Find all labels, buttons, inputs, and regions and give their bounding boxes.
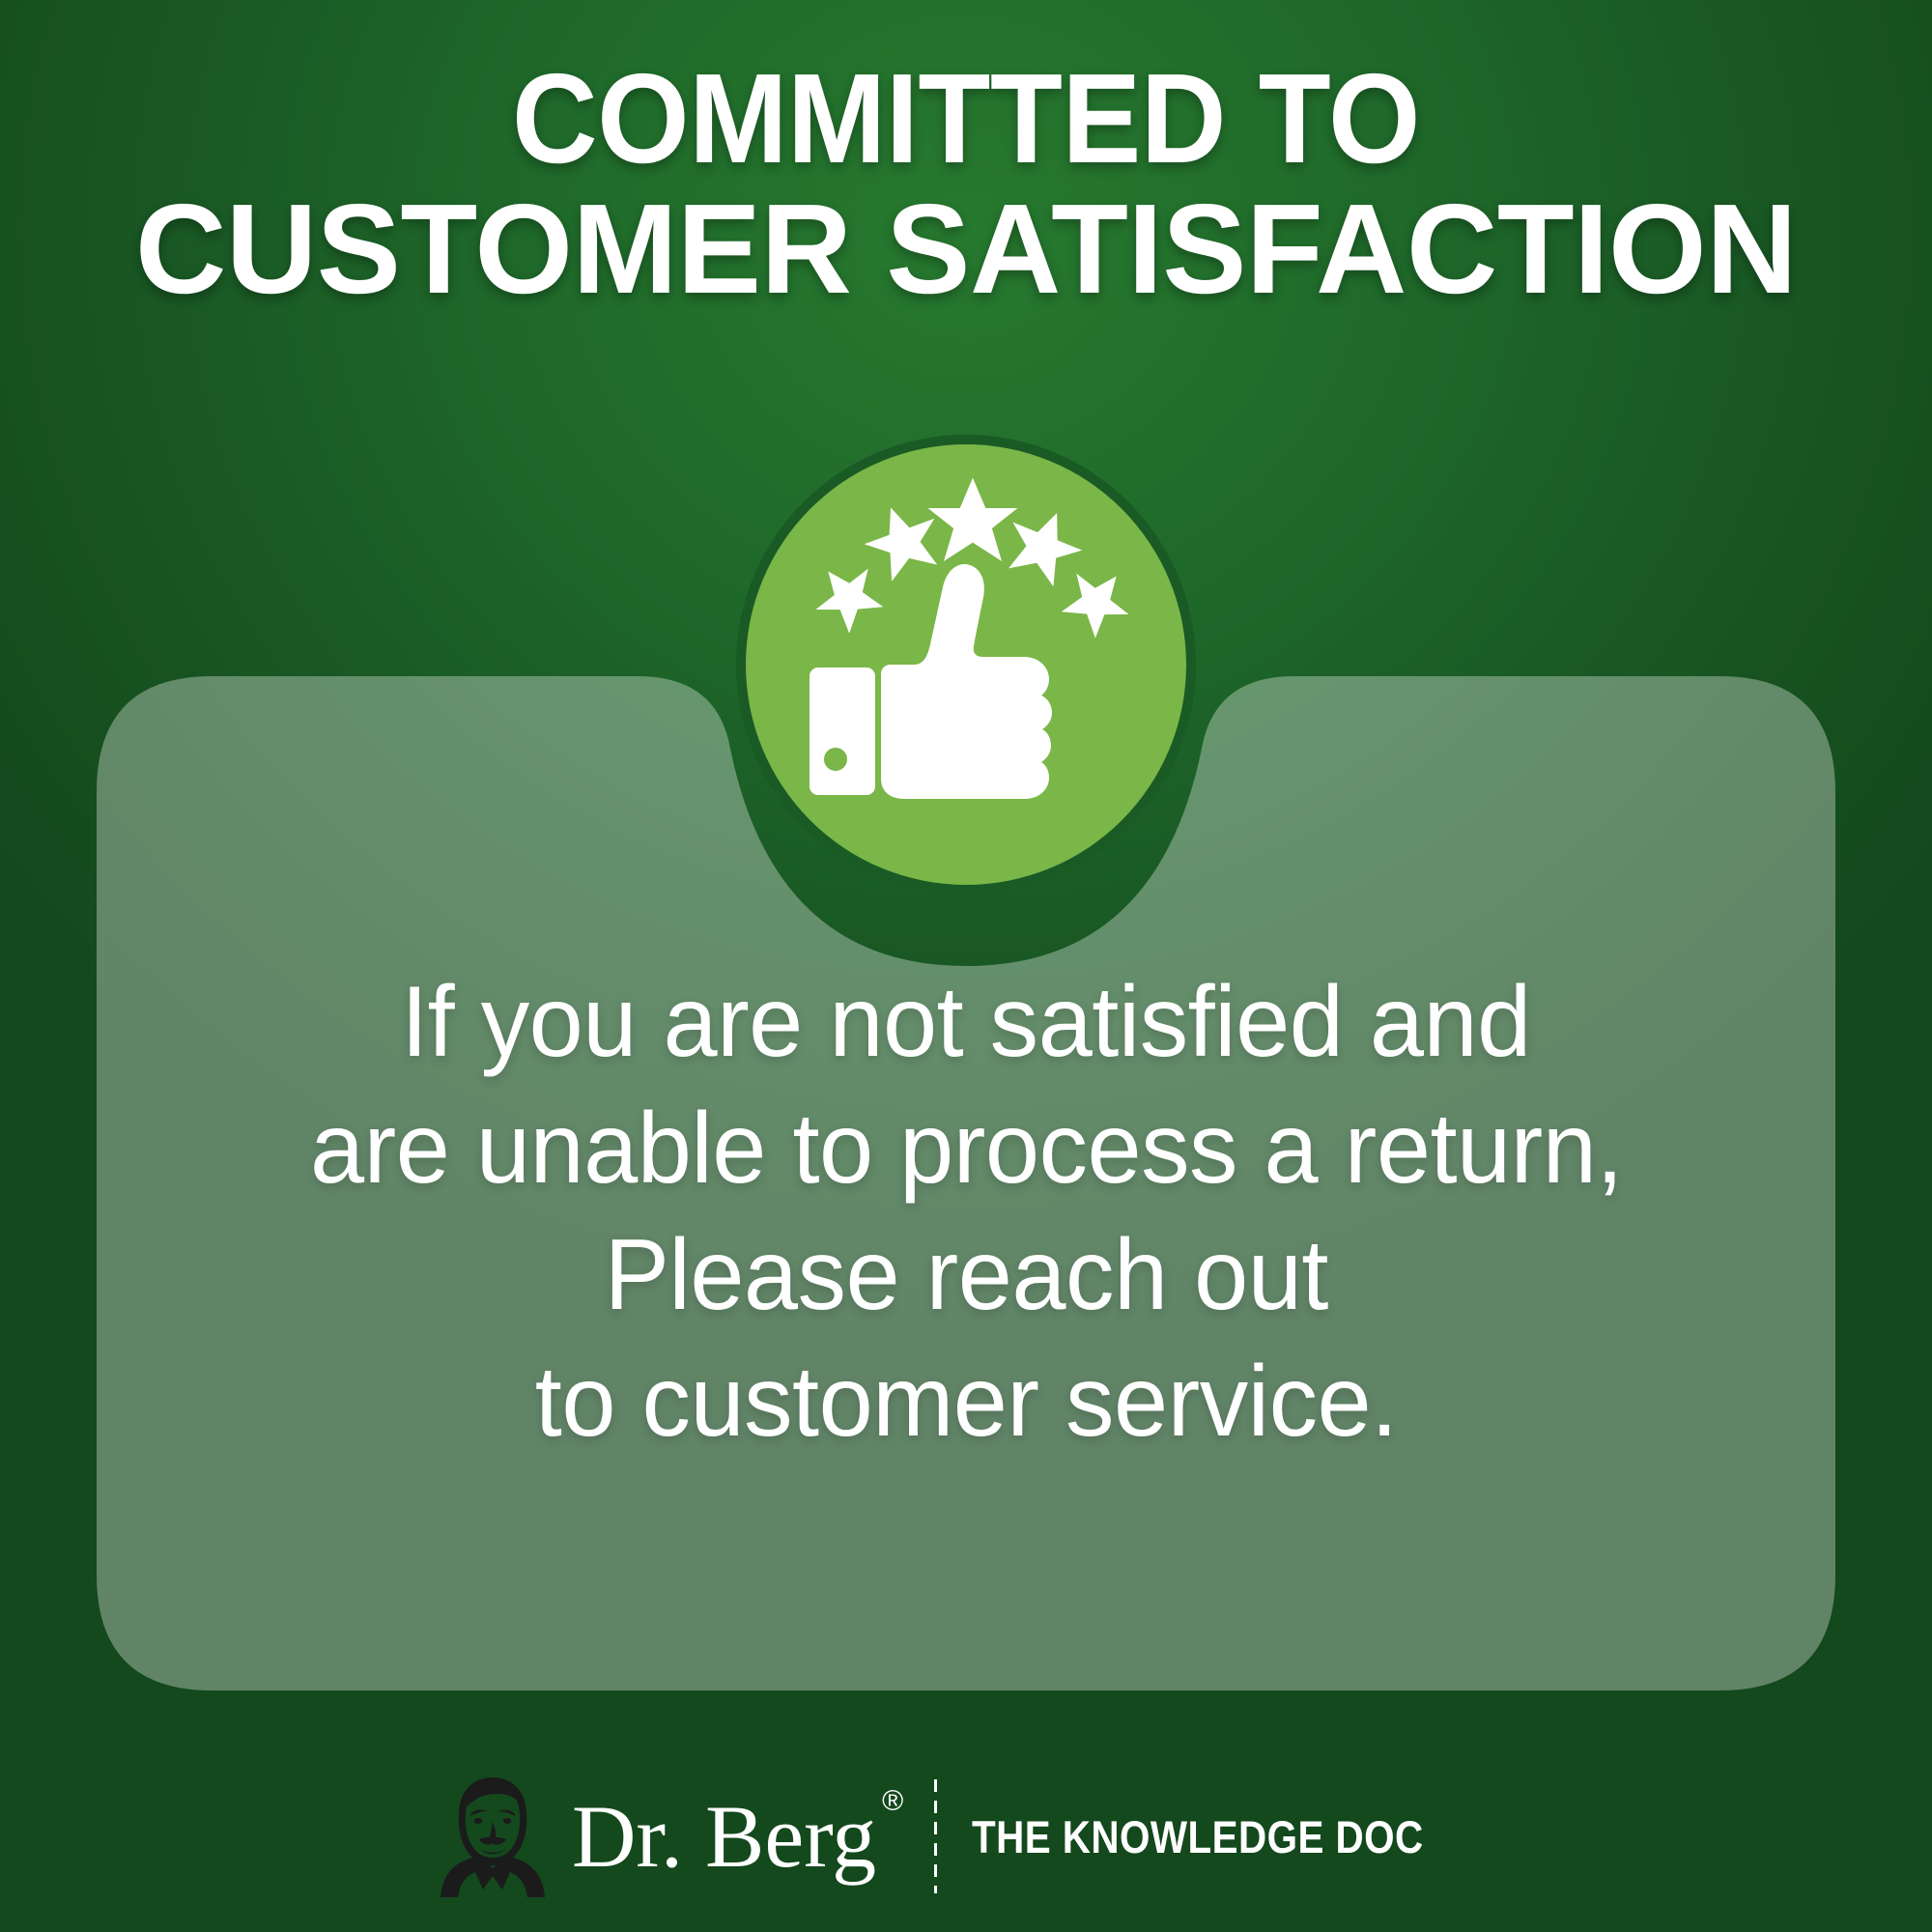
- badge-icon: [734, 433, 1198, 896]
- brand-name: Dr. Berg: [572, 1787, 876, 1886]
- title-line-1: COMMITTED TO: [68, 56, 1864, 181]
- body-line-2: are unable to process a return,: [310, 1086, 1623, 1212]
- body-line-3: Please reach out: [604, 1212, 1327, 1339]
- body-line-1: If you are not satisfied and: [401, 959, 1531, 1086]
- brand-tagline: THE KNOWLEDGE DOC: [972, 1810, 1424, 1863]
- title-line-2: CUSTOMER SATISFACTION: [10, 186, 1922, 311]
- registered-mark-icon: ®: [882, 1785, 903, 1817]
- body-line-4: to customer service.: [535, 1339, 1398, 1465]
- dr-berg-portrait-icon: [435, 1776, 551, 1897]
- thumbs-up-five-stars-badge: [734, 433, 1198, 896]
- page-title: COMMITTED TO CUSTOMER SATISFACTION: [0, 56, 1932, 312]
- cuff-button-icon: [824, 748, 847, 771]
- brand-wordmark: Dr. Berg®: [572, 1792, 897, 1881]
- promo-graphic: COMMITTED TO CUSTOMER SATISFACTION If yo…: [0, 0, 1932, 1932]
- brand-logo: Dr. Berg® THE KNOWLEDGE DOC: [0, 1776, 1932, 1897]
- logo-divider: [934, 1779, 937, 1893]
